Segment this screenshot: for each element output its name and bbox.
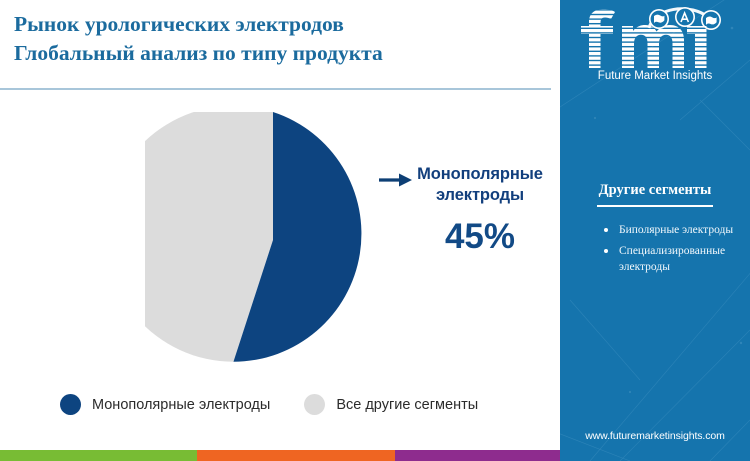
callout-label-line-2: электроды	[400, 185, 560, 206]
side-panel: Future Market Insights Другие сегменты Б…	[560, 0, 750, 461]
page-title: Рынок урологических электродов Глобальны…	[14, 10, 554, 68]
infographic-page: Рынок урологических электродов Глобальны…	[0, 0, 750, 461]
bar-segment-orange	[197, 450, 395, 461]
bottom-color-bar	[0, 450, 560, 461]
callout: Монополярные электроды 45%	[400, 164, 560, 256]
logo-globe-icons	[649, 7, 721, 30]
legend-swatch-icon	[304, 394, 325, 415]
callout-label-line-1: Монополярные	[400, 164, 560, 185]
callout-percentage: 45%	[400, 218, 560, 256]
legend-item-other: Все другие сегменты	[304, 394, 478, 415]
other-segments-heading: Другие сегменты	[560, 182, 750, 199]
bar-segment-purple	[395, 450, 560, 461]
pie-chart-svg	[145, 112, 401, 368]
website-url[interactable]: www.futuremarketinsights.com	[560, 430, 750, 442]
bar-segment-green	[0, 450, 197, 461]
legend-label: Все другие сегменты	[336, 397, 478, 413]
page-title-line-2: Глобальный анализ по типу продукта	[14, 39, 554, 68]
fmi-logo-svg: Future Market Insights	[575, 6, 735, 82]
list-item: Специализированные электроды	[603, 243, 743, 276]
legend-label: Монополярные электроды	[92, 397, 270, 413]
logo-tagline: Future Market Insights	[598, 70, 713, 82]
panel-heading-divider	[597, 205, 713, 207]
fmi-logo: Future Market Insights	[560, 6, 750, 84]
other-segments-list: Биполярные электроды Специализированные …	[603, 222, 743, 280]
chart-legend: Монополярные электроды Все другие сегмен…	[60, 394, 478, 415]
list-item: Биполярные электроды	[603, 222, 743, 239]
pie-chart	[145, 112, 401, 368]
legend-item-monopolar: Монополярные электроды	[60, 394, 270, 415]
page-title-line-1: Рынок урологических электродов	[14, 10, 554, 39]
legend-swatch-icon	[60, 394, 81, 415]
title-divider	[0, 88, 551, 90]
